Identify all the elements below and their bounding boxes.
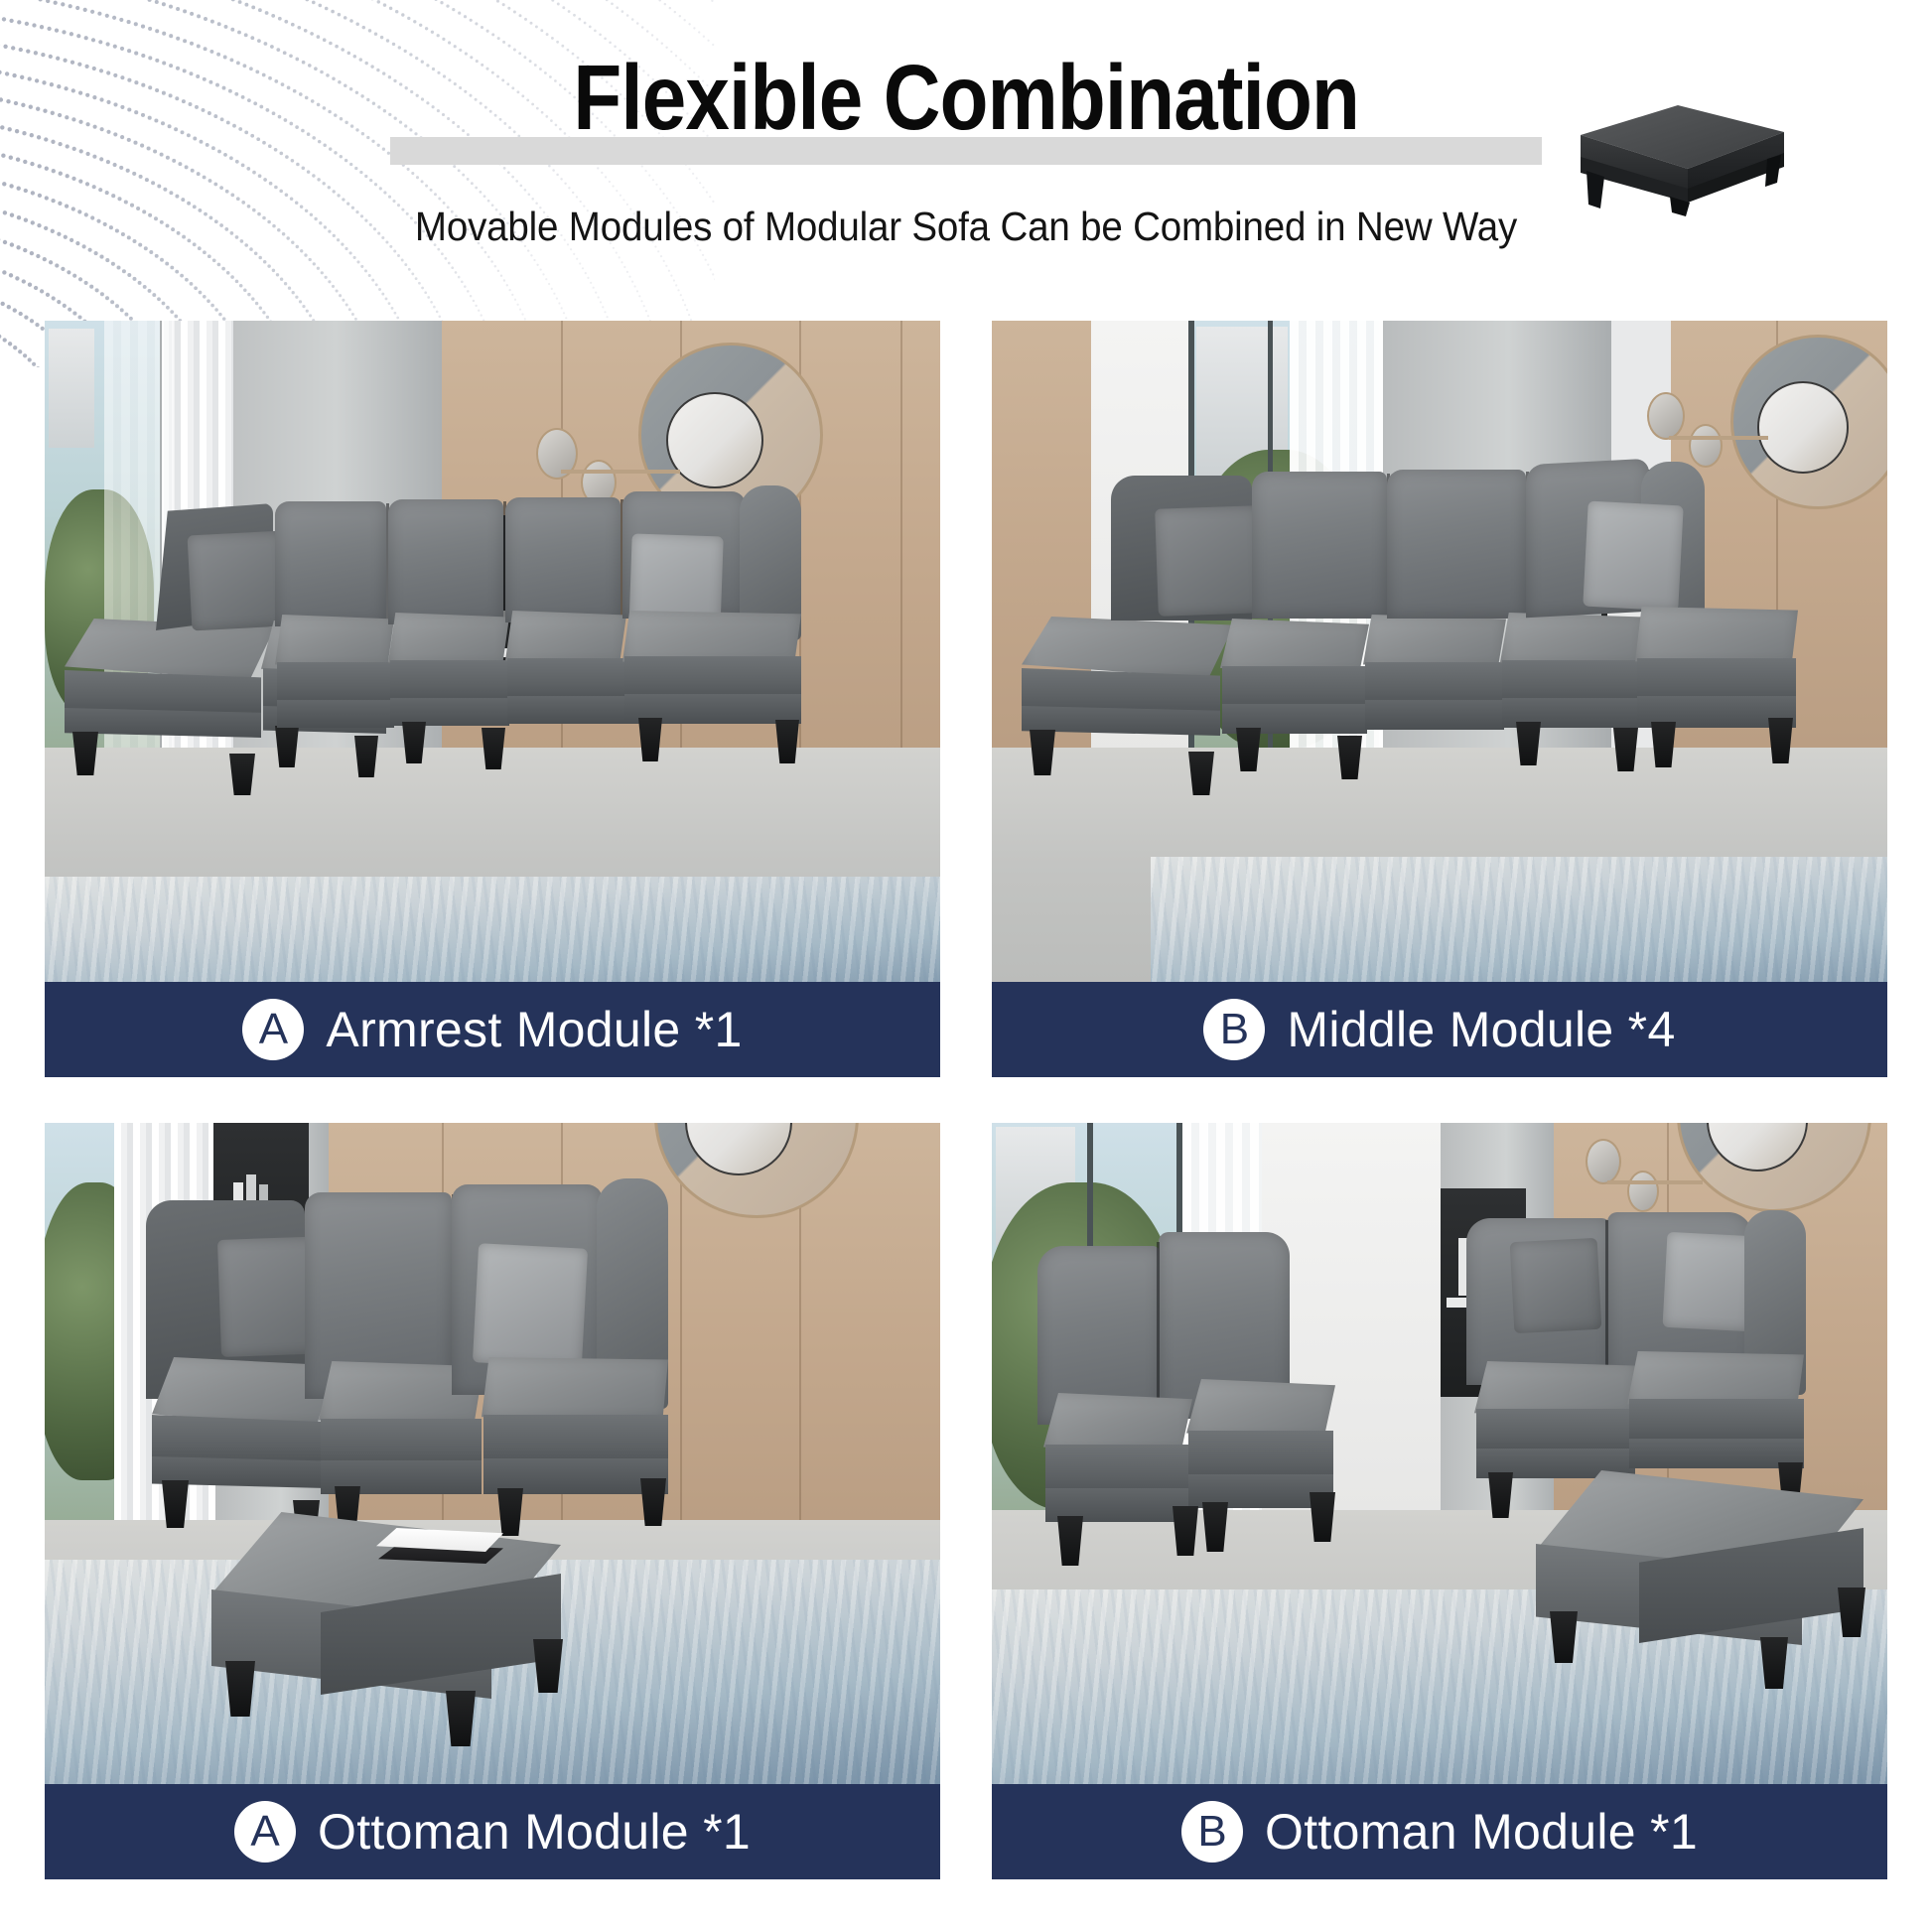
panel-caption-ottoman-a: A Ottoman Module *1	[45, 1784, 940, 1879]
header: Flexible Combination Movable Modules of …	[0, 0, 1932, 298]
panel-caption-armrest: A Armrest Module *1	[45, 982, 940, 1077]
room-scene-ottoman-b	[992, 1123, 1887, 1879]
badge-letter: B	[1203, 999, 1265, 1060]
room-scene-ottoman-a	[45, 1123, 940, 1879]
room-scene-middle	[992, 321, 1887, 1077]
throw-pillow-light	[1663, 1232, 1755, 1331]
module-panel-grid: A Armrest Module *1	[45, 321, 1887, 1879]
throw-pillow	[188, 531, 288, 631]
throw-pillow-light	[473, 1243, 588, 1368]
throw-pillow	[1510, 1238, 1602, 1333]
badge-letter: B	[1181, 1801, 1243, 1863]
badge-letter: A	[242, 999, 304, 1060]
room-scene-armrest	[45, 321, 940, 1077]
caption-label: Middle Module *4	[1287, 1001, 1675, 1058]
panel-ottoman-a[interactable]: A Ottoman Module *1	[45, 1123, 940, 1879]
panel-ottoman-b[interactable]: B Ottoman Module *1	[992, 1123, 1887, 1879]
panel-middle[interactable]: B Middle Module *4	[992, 321, 1887, 1077]
ottoman-product-thumbnail-icon	[1561, 87, 1809, 216]
page-title: Flexible Combination	[573, 52, 1359, 144]
infographic-page: Flexible Combination Movable Modules of …	[0, 0, 1932, 1932]
panel-caption-ottoman-b: B Ottoman Module *1	[992, 1784, 1887, 1879]
throw-pillow	[1155, 505, 1262, 617]
caption-label: Ottoman Module *1	[318, 1803, 751, 1861]
badge-letter: A	[234, 1801, 296, 1863]
throw-pillow-light	[1583, 501, 1683, 612]
panel-armrest[interactable]: A Armrest Module *1	[45, 321, 940, 1077]
panel-caption-middle: B Middle Module *4	[992, 982, 1887, 1077]
caption-label: Armrest Module *1	[326, 1001, 742, 1058]
caption-label: Ottoman Module *1	[1265, 1803, 1698, 1861]
